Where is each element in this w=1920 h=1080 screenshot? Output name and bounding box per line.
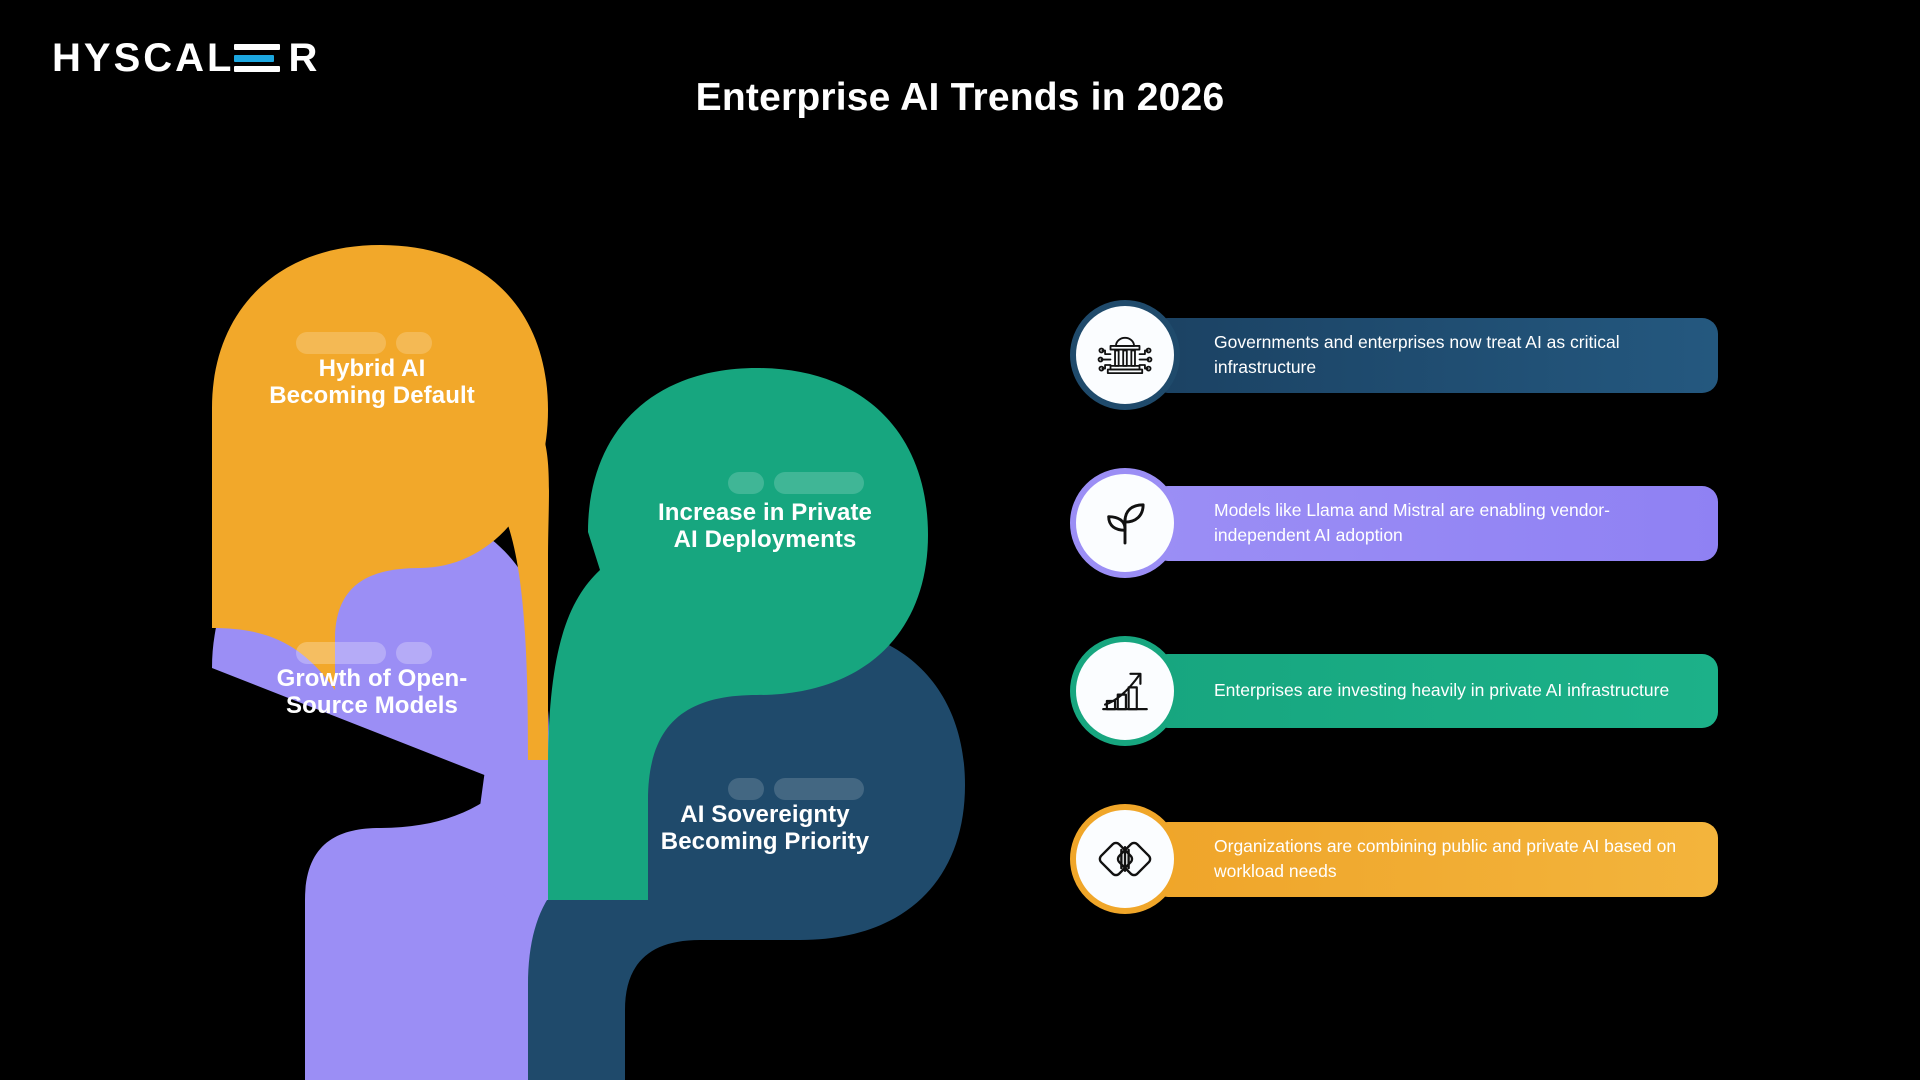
trend-card-pill: Enterprises are investing heavily in pri… (1152, 654, 1718, 728)
trend-card-private-ai-investment[interactable]: Enterprises are investing heavily in pri… (1070, 636, 1770, 758)
trend-card-pill: Models like Llama and Mistral are enabli… (1152, 486, 1718, 561)
trend-card-text: Enterprises are investing heavily in pri… (1214, 678, 1669, 703)
trend-card-list: Governments and enterprises now treat AI… (1070, 300, 1770, 972)
government-building-chip-icon (1070, 300, 1180, 410)
trend-card-pill: Governments and enterprises now treat AI… (1152, 318, 1718, 393)
trend-card-open-source-adoption[interactable]: Models like Llama and Mistral are enabli… (1070, 468, 1770, 590)
trend-card-text: Governments and enterprises now treat AI… (1214, 330, 1696, 381)
trend-card-text: Models like Llama and Mistral are enabli… (1214, 498, 1696, 549)
trend-card-pill: Organizations are combining public and p… (1152, 822, 1718, 897)
trend-card-hybrid-workloads[interactable]: Organizations are combining public and p… (1070, 804, 1770, 926)
sprout-leaf-icon (1070, 468, 1180, 578)
tree-shapes (0, 0, 1020, 1080)
trend-card-text: Organizations are combining public and p… (1214, 834, 1696, 885)
overlapping-diamonds-icon (1070, 804, 1180, 914)
trend-card-ai-critical-infrastructure[interactable]: Governments and enterprises now treat AI… (1070, 300, 1770, 422)
tree-diagram: Hybrid AI Becoming Default Increase in P… (0, 0, 1020, 1080)
infographic-canvas: HYSCAL R Enterprise AI Trends in 2026 (0, 0, 1920, 1080)
growth-bar-chart-arrow-icon (1070, 636, 1180, 746)
trunk-shape (528, 900, 625, 1080)
